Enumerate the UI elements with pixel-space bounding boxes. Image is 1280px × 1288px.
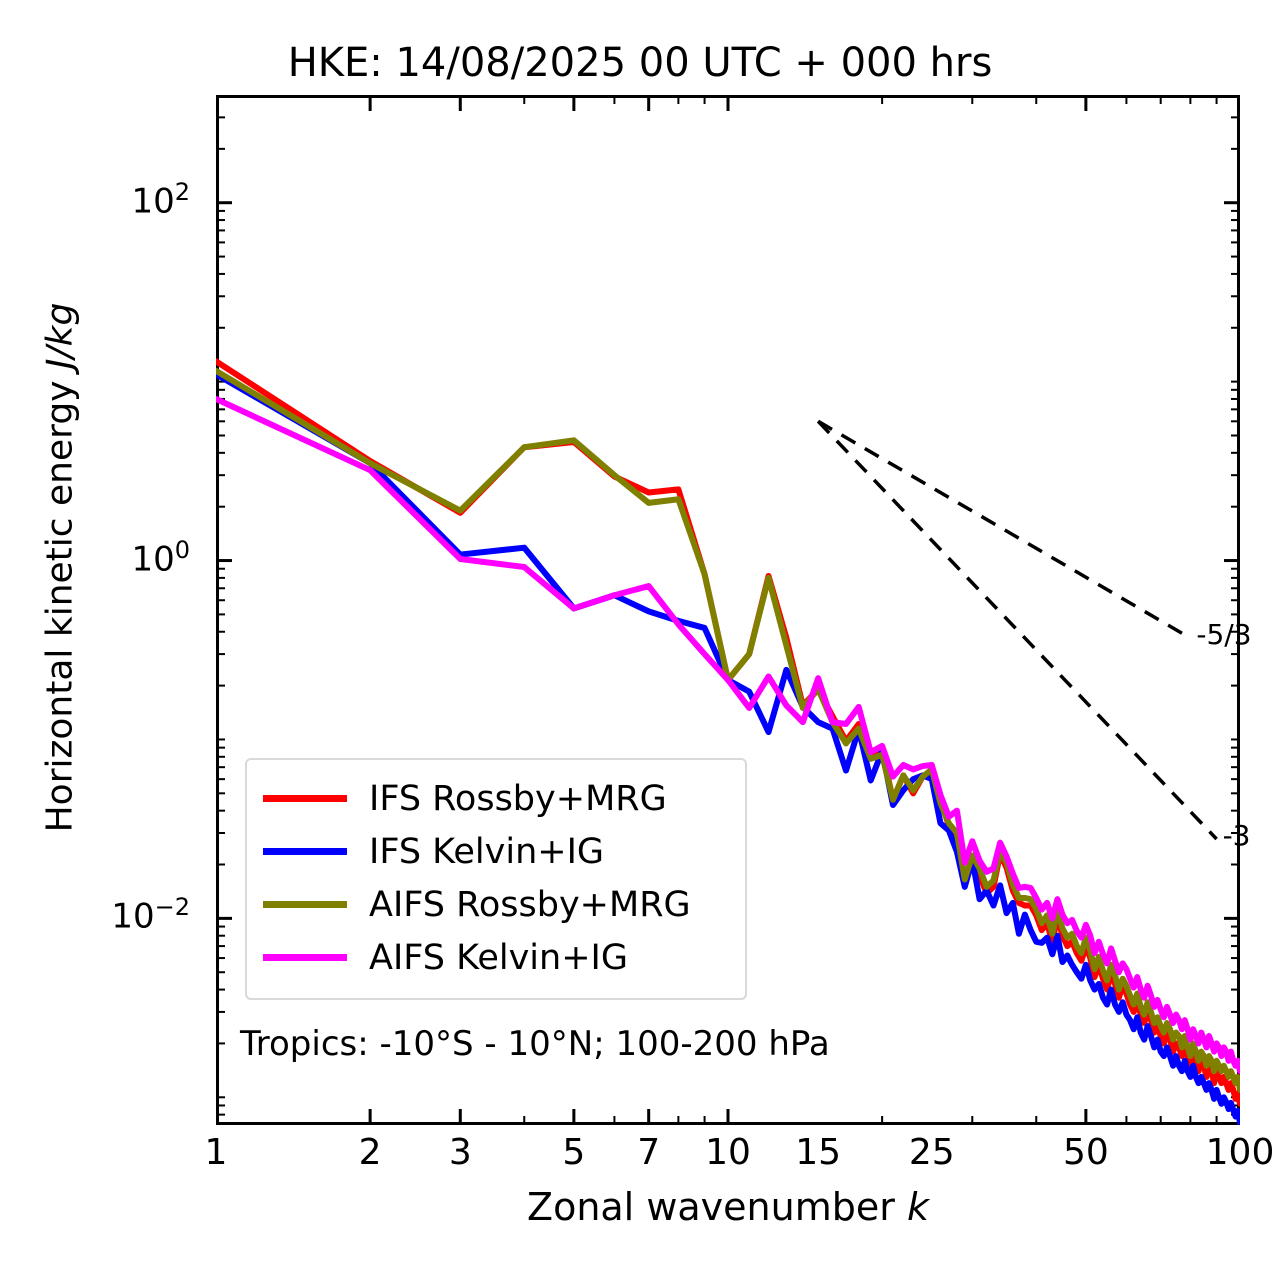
chart-page: HKE: 14/08/2025 00 UTC + 000 hrs Horizon… <box>0 0 1280 1288</box>
x-tick-label: 1 <box>205 1132 228 1173</box>
legend-color-swatch <box>263 795 347 802</box>
x-tick-label: 25 <box>909 1132 955 1173</box>
legend-item: AIFS Rossby+MRG <box>263 878 729 931</box>
legend: IFS Rossby+MRG IFS Kelvin+IG AIFS Rossby… <box>245 758 747 1000</box>
legend-item: IFS Rossby+MRG <box>263 772 729 825</box>
y-tick-text: 10−2 <box>111 893 190 936</box>
legend-item: AIFS Kelvin+IG <box>263 931 729 984</box>
x-tick-label: 100 <box>1206 1132 1275 1173</box>
x-tick-label: 50 <box>1063 1132 1109 1173</box>
page-title: HKE: 14/08/2025 00 UTC + 000 hrs <box>0 40 1280 86</box>
y-tick-text: 102 <box>131 178 190 221</box>
legend-color-swatch <box>263 848 347 855</box>
x-axis-label: Zonal wavenumber k <box>216 1185 1240 1229</box>
region-annotation: Tropics: -10°S - 10°N; 100-200 hPa <box>240 1024 830 1064</box>
legend-item-label: IFS Rossby+MRG <box>369 779 667 819</box>
y-axis-label-text: Horizontal kinetic energy <box>40 369 81 832</box>
legend-color-swatch <box>263 954 347 961</box>
x-tick-label: 3 <box>449 1132 472 1173</box>
x-tick-label: 10 <box>705 1132 751 1173</box>
y-axis-label: Horizontal kinetic energy J/kg <box>40 218 81 918</box>
x-tick-label: 7 <box>637 1132 660 1173</box>
legend-item-label: IFS Kelvin+IG <box>369 832 604 872</box>
x-tick-label: 2 <box>359 1132 382 1173</box>
x-tick-label: 5 <box>562 1132 585 1173</box>
slope-label-53: -5/3 <box>1196 618 1251 651</box>
x-axis-label-text: Zonal wavenumber <box>527 1185 907 1229</box>
series-line-ifs-kelvin-ig <box>216 374 1240 1123</box>
legend-item-label: AIFS Rossby+MRG <box>369 885 691 925</box>
legend-color-swatch <box>263 901 347 908</box>
legend-item: IFS Kelvin+IG <box>263 825 729 878</box>
y-tick-text: 100 <box>131 536 190 579</box>
y-axis-units: J/kg <box>40 303 81 369</box>
x-tick-label: 15 <box>795 1132 841 1173</box>
legend-item-label: AIFS Kelvin+IG <box>369 938 628 978</box>
x-axis-variable: k <box>907 1185 929 1229</box>
slope-label-3: -3 <box>1223 819 1251 852</box>
